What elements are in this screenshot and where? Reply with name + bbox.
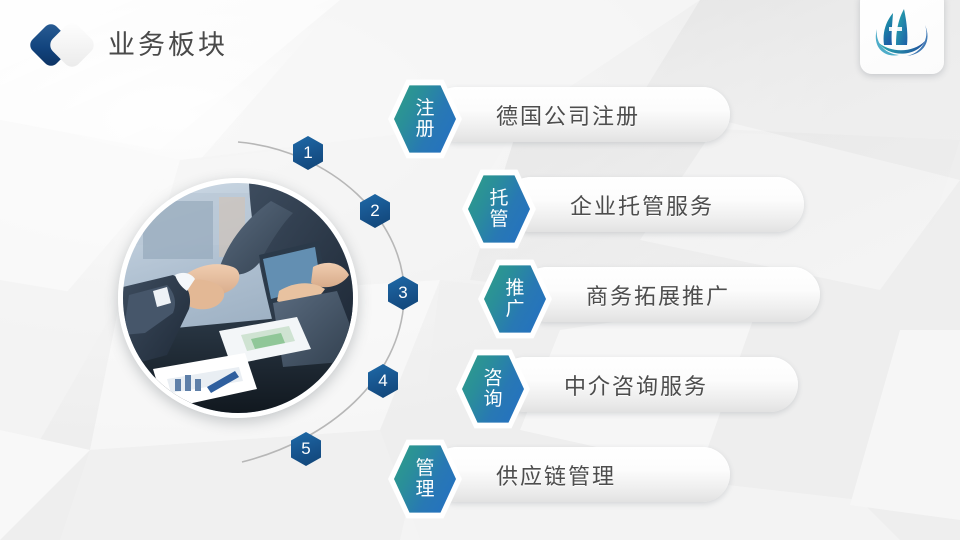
service-hexagon-fill: 托管 (468, 174, 530, 244)
service-item-text: 供应链管理 (496, 459, 616, 491)
business-handshake-photo (118, 178, 358, 418)
service-item-text: 企业托管服务 (570, 189, 714, 221)
service-hexagon-label: 管理 (413, 458, 437, 500)
page-title: 业务板块 (108, 23, 228, 62)
brand-logo (860, 0, 944, 74)
service-hexagon-label: 注册 (413, 98, 437, 140)
service-hexagon-label: 推广 (503, 278, 527, 320)
sailboat-logo-icon (871, 1, 933, 63)
step-number-label: 3 (398, 283, 407, 303)
service-item-pill[interactable]: 中介咨询服务 (498, 357, 798, 412)
service-item-row[interactable]: 企业托管服务托管 (462, 168, 804, 244)
service-item-pill[interactable]: 供应链管理 (430, 447, 730, 502)
service-item-row[interactable]: 商务拓展推广推广 (478, 258, 820, 334)
service-hexagon-fill: 管理 (394, 444, 456, 514)
step-number-label: 2 (370, 201, 379, 221)
slide-header: 业务板块 (0, 0, 960, 86)
service-hexagon-fill: 推广 (484, 264, 546, 334)
service-hexagon-label: 咨询 (481, 368, 505, 410)
step-number-label: 4 (378, 371, 387, 391)
step-number-label: 5 (301, 439, 310, 459)
service-item-row[interactable]: 供应链管理管理 (388, 438, 730, 514)
service-hexagon-label: 托管 (487, 188, 511, 230)
service-item-pill[interactable]: 商务拓展推广 (520, 267, 820, 322)
slide-canvas: 业务板块 (0, 0, 960, 540)
service-item-row[interactable]: 中介咨询服务咨询 (456, 348, 798, 424)
service-hexagon-fill: 咨询 (462, 354, 524, 424)
service-hexagon-fill: 注册 (394, 84, 456, 154)
service-item-text: 德国公司注册 (496, 99, 640, 131)
service-item-pill[interactable]: 德国公司注册 (430, 87, 730, 142)
service-item-text: 中介咨询服务 (564, 369, 708, 401)
service-item-pill[interactable]: 企业托管服务 (504, 177, 804, 232)
step-number-label: 1 (303, 143, 312, 163)
service-item-row[interactable]: 德国公司注册注册 (388, 78, 730, 154)
double-diamond-icon (28, 14, 98, 76)
service-item-text: 商务拓展推广 (586, 279, 730, 311)
